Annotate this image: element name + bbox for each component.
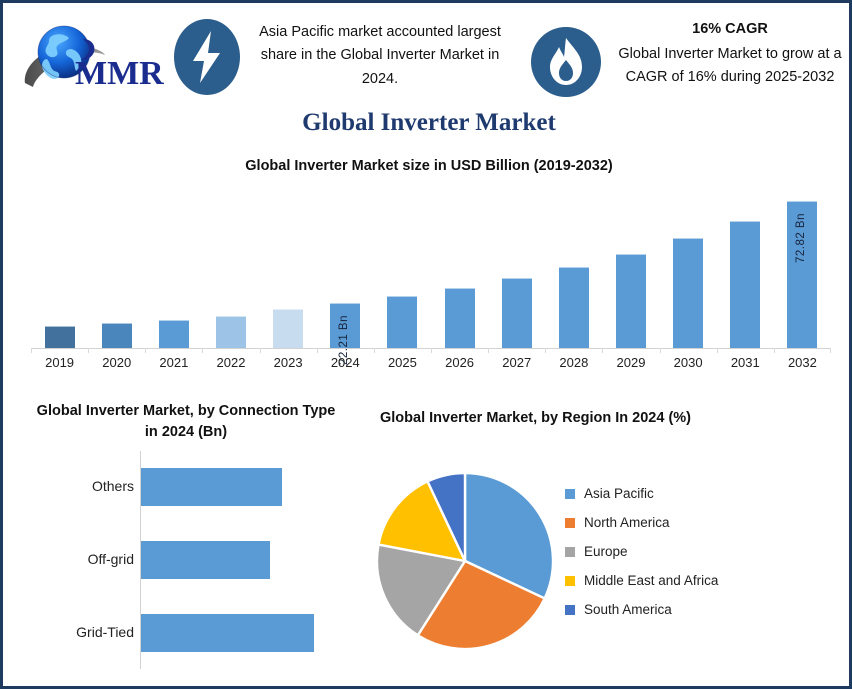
- connection-type-chart: OthersOff-gridGrid-Tied: [31, 451, 341, 671]
- bar-x-label-2019: 2019: [31, 355, 88, 370]
- bar-2022: [216, 316, 246, 348]
- cagr-body: Global Inverter Market to grow at a CAGR…: [611, 43, 849, 90]
- bar-x-label-2030: 2030: [660, 355, 717, 370]
- legend-item-europe: Europe: [565, 537, 835, 566]
- bar-2028: [559, 267, 589, 348]
- cagr-heading: 16% CAGR: [611, 21, 849, 37]
- legend-label: North America: [584, 515, 670, 530]
- region-pie-legend: Asia PacificNorth AmericaEuropeMiddle Ea…: [565, 479, 835, 624]
- bar-chart-title: Global Inverter Market size in USD Billi…: [3, 158, 852, 174]
- legend-swatch-icon: [565, 547, 575, 557]
- region-pie-chart: [375, 471, 555, 651]
- legend-item-asia-pacific: Asia Pacific: [565, 479, 835, 508]
- hbar-label-off-grid: Off-grid: [31, 551, 134, 567]
- legend-label: Europe: [584, 544, 628, 559]
- bar-tick-2019: [31, 348, 32, 353]
- connection-type-chart-title: Global Inverter Market, by Connection Ty…: [31, 401, 341, 443]
- bar-2030: [673, 238, 703, 348]
- bar-2026: [445, 288, 475, 349]
- bar-2031: [730, 221, 760, 348]
- legend-swatch-icon: [565, 605, 575, 615]
- bar-x-label-2027: 2027: [488, 355, 545, 370]
- bar-x-label-2026: 2026: [431, 355, 488, 370]
- bar-tick-2029: [602, 348, 603, 353]
- bar-x-label-2020: 2020: [88, 355, 145, 370]
- bar-tick-2021: [145, 348, 146, 353]
- bar-chart: 22.21 Bn72.82 Bn 20192020202120222023202…: [31, 178, 831, 373]
- bar-x-label-2029: 2029: [602, 355, 659, 370]
- bar-x-label-2028: 2028: [545, 355, 602, 370]
- legend-label: South America: [584, 602, 672, 617]
- flame-drop-badge: [530, 25, 602, 99]
- pie-svg: [375, 471, 555, 651]
- bar-x-label-2032: 2032: [774, 355, 831, 370]
- bar-tick-end: [830, 348, 831, 353]
- infographic-frame: MMR Asia Pacific market accounted larges…: [0, 0, 852, 689]
- logo-wordmark: MMR: [75, 55, 164, 93]
- bar-tick-2020: [88, 348, 89, 353]
- bar-chart-x-labels: 2019202020212022202320242025202620272028…: [31, 355, 831, 375]
- bar-2027: [502, 278, 532, 348]
- page-title: Global Inverter Market: [3, 109, 852, 137]
- legend-item-north-america: North America: [565, 508, 835, 537]
- region-chart-title: Global Inverter Market, by Region In 202…: [363, 408, 708, 429]
- bar-2019: [45, 326, 75, 348]
- hbar-grid-tied: [141, 614, 314, 652]
- legend-swatch-icon: [565, 576, 575, 586]
- bar-2021: [159, 320, 189, 348]
- bar-tick-2024: [317, 348, 318, 353]
- bar-x-label-2021: 2021: [145, 355, 202, 370]
- hbar-off-grid: [141, 541, 270, 579]
- lightning-bolt-badge: [173, 17, 241, 97]
- legend-item-south-america: South America: [565, 595, 835, 624]
- mmr-logo: MMR: [17, 19, 167, 99]
- bar-tick-2023: [260, 348, 261, 353]
- bar-tick-2032: [774, 348, 775, 353]
- bar-tick-2028: [545, 348, 546, 353]
- bar-tick-2026: [431, 348, 432, 353]
- bar-chart-plot: 22.21 Bn72.82 Bn: [31, 178, 831, 348]
- asia-pacific-note: Asia Pacific market accounted largest sh…: [255, 21, 505, 91]
- bar-tick-2022: [202, 348, 203, 353]
- legend-label: Middle East and Africa: [584, 573, 718, 588]
- bar-x-label-2022: 2022: [202, 355, 259, 370]
- bar-tick-2031: [717, 348, 718, 353]
- bar-tick-2030: [660, 348, 661, 353]
- bar-2029: [616, 254, 646, 348]
- hbar-label-others: Others: [31, 478, 134, 494]
- bar-2025: [387, 296, 417, 348]
- hbar-others: [141, 468, 282, 506]
- bar-value-label-2032: 72.82 Bn: [795, 213, 807, 263]
- bar-x-label-2023: 2023: [260, 355, 317, 370]
- bar-x-label-2031: 2031: [717, 355, 774, 370]
- bar-tick-2025: [374, 348, 375, 353]
- bar-2020: [102, 323, 132, 348]
- legend-label: Asia Pacific: [584, 486, 654, 501]
- legend-swatch-icon: [565, 489, 575, 499]
- cagr-callout: 16% CAGR Global Inverter Market to grow …: [611, 21, 849, 90]
- bar-2023: [273, 309, 303, 348]
- bar-x-label-2025: 2025: [374, 355, 431, 370]
- bar-x-label-2024: 2024: [317, 355, 374, 370]
- hbar-label-grid-tied: Grid-Tied: [31, 624, 134, 640]
- bar-tick-2027: [488, 348, 489, 353]
- legend-item-middle-east-and-africa: Middle East and Africa: [565, 566, 835, 595]
- legend-swatch-icon: [565, 518, 575, 528]
